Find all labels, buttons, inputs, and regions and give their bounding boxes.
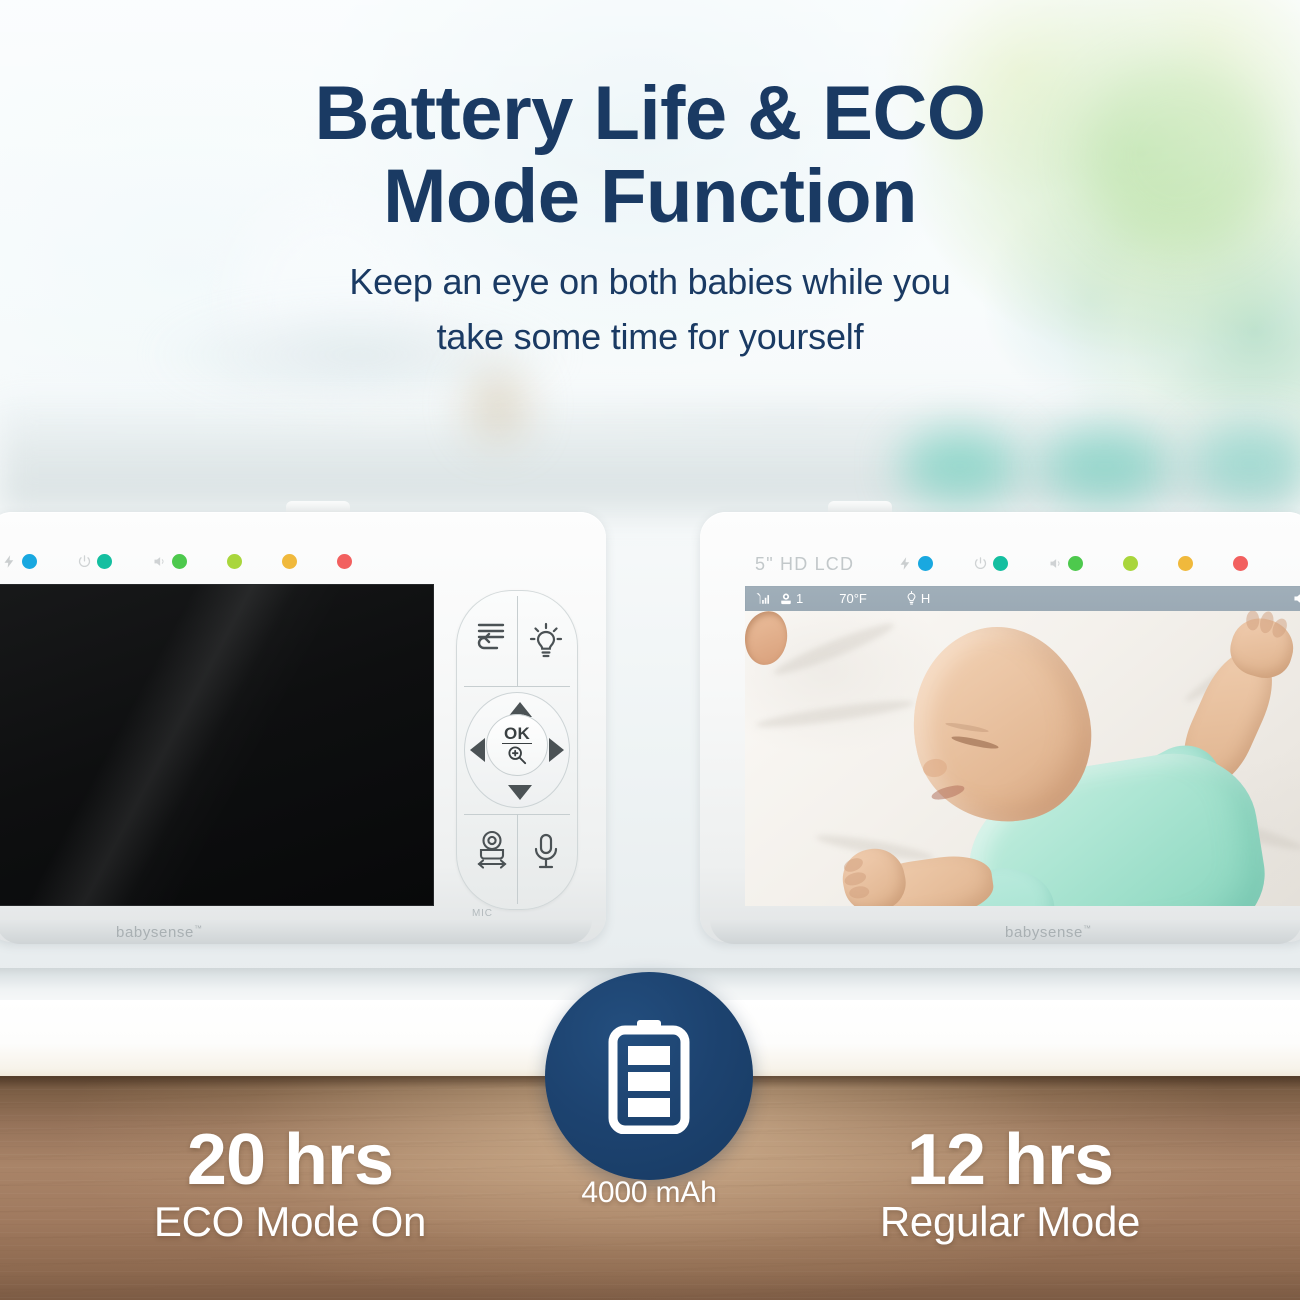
night-light-indicator: H: [905, 591, 930, 606]
button-divider: [517, 814, 518, 904]
charging-led-group: [898, 556, 933, 571]
sound-level-1-led: [1123, 556, 1138, 571]
baby-monitor-right[interactable]: 5" HD LCD: [700, 512, 1300, 942]
stat-regular-mode: 12 hrs Regular Mode: [760, 1122, 1260, 1248]
marketing-image-stage: Battery Life & ECO Mode Function Keep an…: [0, 0, 1300, 1300]
power-icon: [973, 556, 988, 571]
speaker-icon: [1048, 556, 1063, 571]
speaker-icon: [152, 554, 167, 569]
night-light-value: H: [921, 591, 930, 606]
headline-line-2: Mode Function: [0, 155, 1300, 238]
stat-left-value: 20 hrs: [40, 1122, 540, 1198]
monitor-left-button-panel: OK: [456, 590, 578, 910]
mic-label: MIC: [472, 908, 493, 919]
stat-right-value: 12 hrs: [760, 1122, 1260, 1198]
battery-badge: [545, 972, 753, 1180]
light-bulb-icon[interactable]: [526, 616, 566, 662]
sound-level-2-led: [1178, 556, 1193, 571]
brand-logo-right: babysense™: [1005, 924, 1092, 941]
sound-led-group: [1048, 556, 1083, 571]
ok-zoom-button[interactable]: OK: [486, 714, 548, 776]
magnifier-plus-icon: [506, 745, 528, 765]
camera-pan-icon[interactable]: [472, 828, 512, 876]
stat-eco-mode: 20 hrs ECO Mode On: [40, 1122, 540, 1248]
headline-line-1: Battery Life & ECO: [0, 72, 1300, 155]
background-teal-blob: [900, 430, 1020, 502]
signal-indicator: [755, 591, 770, 606]
charging-led: [918, 556, 933, 571]
background-teal-blob: [1040, 428, 1170, 504]
battery-icon: [603, 1018, 695, 1134]
sound-led: [172, 554, 187, 569]
dpad-left-button[interactable]: [470, 738, 485, 762]
monitor-left-base: [0, 920, 592, 944]
battery-capacity-caption: 4000 mAh: [545, 1176, 753, 1210]
bulb-icon: [905, 591, 918, 606]
power-led: [97, 554, 112, 569]
baby-finger: [843, 870, 867, 888]
baby-monitor-left[interactable]: OK: [0, 512, 606, 942]
dpad-right-button[interactable]: [549, 738, 564, 762]
dpad-down-button[interactable]: [508, 785, 532, 800]
charging-led: [22, 554, 37, 569]
led-indicator-strip-right: [898, 556, 1248, 571]
ok-divider: [502, 743, 532, 745]
sound-level-2-led: [282, 554, 297, 569]
button-divider: [517, 596, 518, 686]
sound-level-3-led: [1233, 556, 1248, 571]
brand-logo-left: babysense™: [116, 924, 203, 941]
page-subtitle: Keep an eye on both babies while you tak…: [0, 254, 1300, 364]
sound-level-3-led: [337, 554, 352, 569]
button-divider: [464, 686, 570, 687]
lightning-bolt-icon: [898, 556, 913, 571]
baby-finger: [1246, 611, 1259, 630]
monitor-right-screen[interactable]: 1 70°F H: [745, 586, 1300, 906]
screen-size-label: 5" HD LCD: [755, 554, 854, 575]
power-led-group: [973, 556, 1008, 571]
temperature-readout: 70°F: [839, 591, 867, 606]
subheadline-line-2: take some time for yourself: [0, 309, 1300, 364]
menu-back-icon[interactable]: [472, 618, 510, 662]
led-indicator-strip-left: [2, 554, 352, 569]
camera-number: 1: [796, 591, 803, 606]
power-led-group: [77, 554, 112, 569]
stat-left-label: ECO Mode On: [40, 1196, 540, 1248]
headline-block: Battery Life & ECO Mode Function Keep an…: [0, 72, 1300, 364]
live-video-feed: [745, 611, 1300, 906]
lightning-bolt-icon: [2, 554, 17, 569]
charging-led-group: [2, 554, 37, 569]
signal-bars-icon: [755, 591, 770, 606]
power-icon: [77, 554, 92, 569]
stat-right-label: Regular Mode: [760, 1196, 1260, 1248]
subheadline-line-1: Keep an eye on both babies while you: [0, 254, 1300, 309]
monitor-left-screen-off[interactable]: [0, 584, 434, 906]
sound-led: [1068, 556, 1083, 571]
sound-led-group: [152, 554, 187, 569]
sound-level-1-led: [227, 554, 242, 569]
speaker-muted-icon[interactable]: [1292, 590, 1300, 610]
page-title: Battery Life & ECO Mode Function: [0, 72, 1300, 238]
background-teal-blob: [1190, 425, 1300, 503]
ok-button-label: OK: [504, 725, 530, 742]
camera-icon: [779, 592, 793, 606]
power-led: [993, 556, 1008, 571]
background-object-blob: [470, 370, 526, 440]
video-status-bar: 1 70°F H: [745, 586, 1300, 611]
microphone-icon[interactable]: [530, 830, 562, 874]
baby-finger: [849, 885, 870, 899]
camera-indicator: 1: [779, 591, 803, 606]
